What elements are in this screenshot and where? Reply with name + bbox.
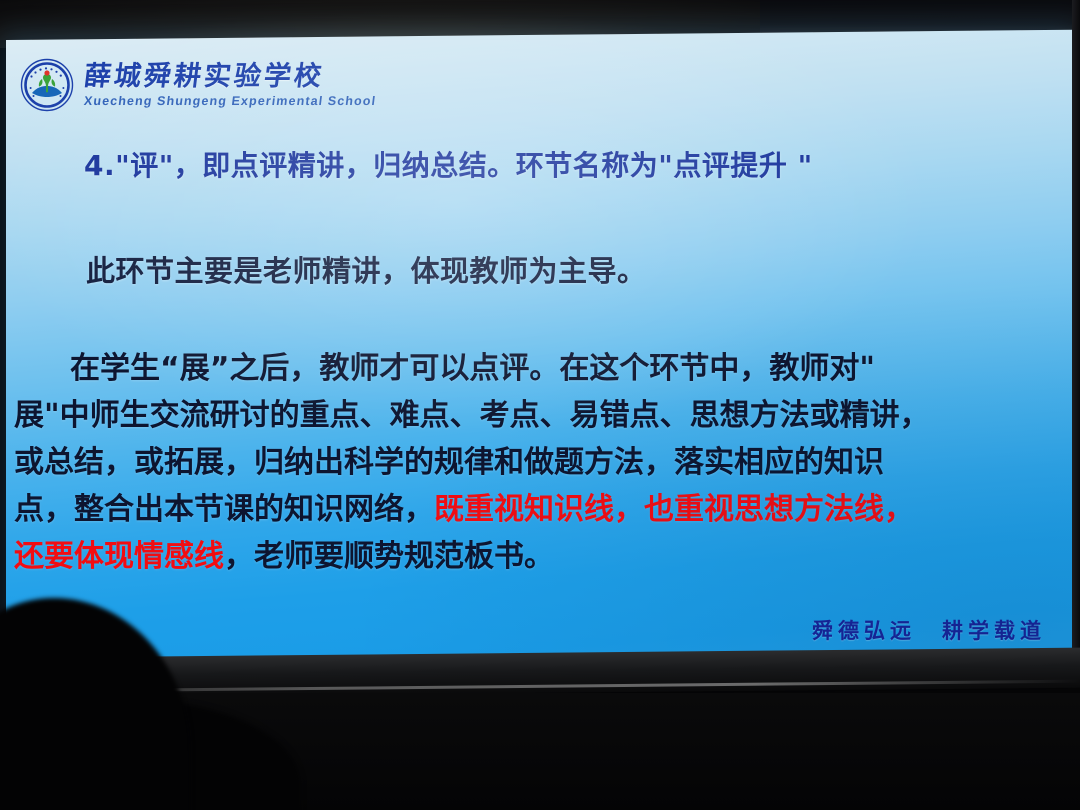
slide-canvas: 薛城舜耕实验学校 Xuecheng Shungeng Experimental … (6, 40, 1074, 665)
school-motto: 舜德弘远 耕学载道 (812, 615, 1046, 645)
body-text: ，老师要顺势规范板书。 (224, 539, 554, 574)
slide-subtitle: 此环节主要是老师精讲，体现教师为主导。 (86, 248, 647, 290)
body-line: 展"中师生交流研讨的重点、难点、考点、易错点、思想方法或精讲， (14, 392, 1068, 439)
slide-header: 薛城舜耕实验学校 Xuecheng Shungeng Experimental … (20, 58, 376, 112)
body-line: 点，整合出本节课的知识网络，既重视知识线，也重视思想方法线， (14, 486, 1068, 533)
school-name-en: Xuecheng Shungeng Experimental School (83, 95, 377, 108)
projected-slide-photo: 薛城舜耕实验学校 Xuecheng Shungeng Experimental … (0, 0, 1080, 810)
body-line: 在学生“展”之后，教师才可以点评。在这个环节中，教师对" (14, 345, 1068, 392)
school-crest-icon (20, 58, 74, 112)
slide-title: 4."评"，即点评精讲，归纳总结。环节名称为"点评提升 " (84, 144, 813, 184)
wall-right-strip (1072, 0, 1080, 680)
slide-body: 在学生“展”之后，教师才可以点评。在这个环节中，教师对"展"中师生交流研讨的重点… (14, 345, 1068, 580)
projection-screen: 薛城舜耕实验学校 Xuecheng Shungeng Experimental … (6, 30, 1074, 665)
body-line: 还要体现情感线，老师要顺势规范板书。 (14, 533, 1068, 580)
school-name-block: 薛城舜耕实验学校 Xuecheng Shungeng Experimental … (84, 63, 376, 108)
body-text: 点，整合出本节课的知识网络， (14, 492, 434, 527)
emphasis-text: 既重视知识线，也重视思想方法线， (434, 492, 914, 527)
body-text: 在学生“展”之后，教师才可以点评。在这个环节中，教师对" (70, 351, 875, 386)
school-name-cn: 薛城舜耕实验学校 (82, 63, 377, 90)
body-text: 或总结，或拓展，归纳出科学的规律和做题方法，落实相应的知识 (14, 445, 884, 480)
emphasis-text: 还要体现情感线 (14, 539, 224, 574)
body-text: 展"中师生交流研讨的重点、难点、考点、易错点、思想方法或精讲， (14, 398, 930, 433)
body-line: 或总结，或拓展，归纳出科学的规律和做题方法，落实相应的知识 (14, 439, 1068, 486)
